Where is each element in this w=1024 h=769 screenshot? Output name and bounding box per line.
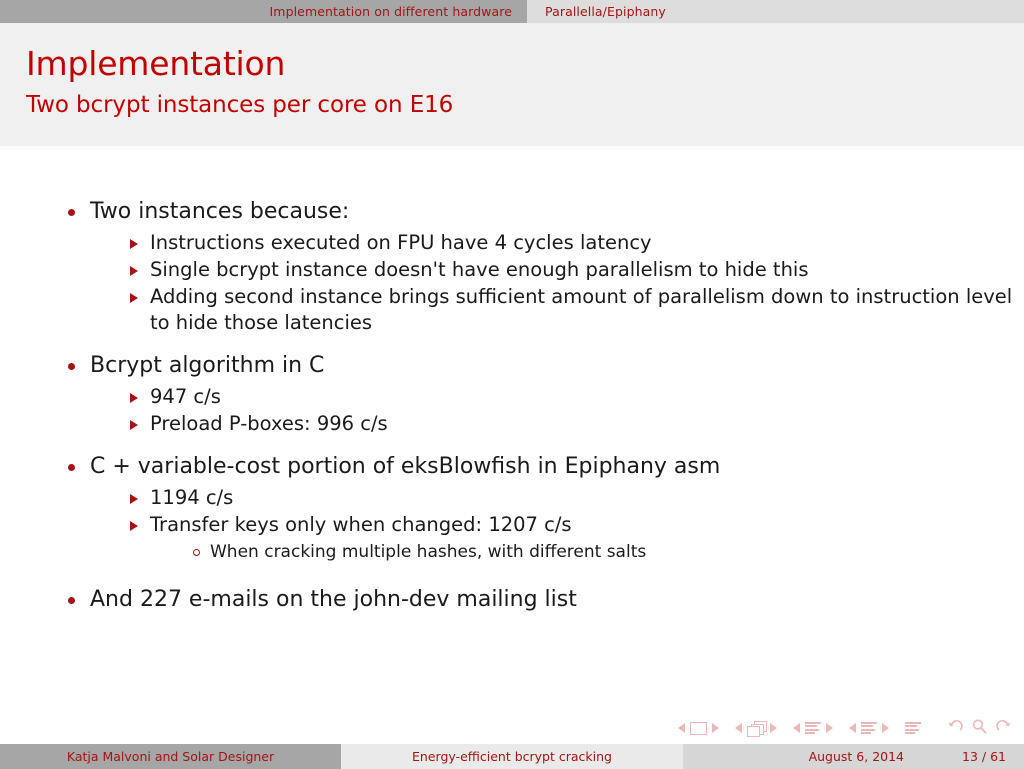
bullet-text: And 227 e-mails on the john-dev mailing … [90,586,1024,614]
previous-frame-icon[interactable] [735,723,742,733]
list-item: Adding second instance brings sufficient… [124,284,1024,336]
previous-section-icon[interactable] [849,723,856,733]
spacer [62,342,1024,352]
bullet-list-level2: Instructions executed on FPU have 4 cycl… [124,230,1024,336]
next-frame-icon[interactable] [770,723,777,733]
spacer [62,569,1024,586]
slide-title-block: Implementation Two bcrypt instances per … [0,23,1024,146]
bullet-text: 1194 c/s [150,486,233,509]
footer-page-number: 13 / 61 [962,749,1006,764]
spacer [62,443,1024,453]
bullet-text: Single bcrypt instance doesn't have enou… [150,258,809,281]
subsection-icon[interactable] [805,722,821,735]
frames-icon[interactable] [747,721,765,735]
bullet-text: Two instances because: [90,198,1024,226]
next-slide-icon[interactable] [712,723,719,733]
presentation-icon[interactable] [905,722,921,735]
document-navigation-group [947,718,1012,739]
next-subsection-icon[interactable] [826,723,833,733]
list-item: And 227 e-mails on the john-dev mailing … [62,586,1024,614]
slide-header-bar: Implementation on different hardware Par… [0,0,1024,23]
search-icon[interactable] [971,718,988,739]
back-icon[interactable] [947,718,964,739]
list-item: Transfer keys only when changed: 1207 c/… [124,512,1024,563]
bullet-list-level1: Two instances because: Instructions exec… [62,198,1024,614]
list-item: Instructions executed on FPU have 4 cycl… [124,230,1024,256]
frame-navigation-group [735,721,777,735]
slide-navigation-group [678,722,719,735]
bullet-list-level2: 1194 c/s Transfer keys only when changed… [124,485,1024,563]
page-subtitle: Two bcrypt instances per core on E16 [26,92,1024,120]
list-item: When cracking multiple hashes, with diff… [186,541,1024,563]
bullet-text: Adding second instance brings sufficient… [150,285,1012,334]
bullet-text: Preload P-boxes: 996 c/s [150,412,388,435]
header-subsection-label[interactable]: Parallella/Epiphany [527,0,1024,23]
bullet-text: Instructions executed on FPU have 4 cycl… [150,231,652,254]
footer-title: Energy-efficient bcrypt cracking [341,744,683,769]
slide-footer-bar: Katja Malvoni and Solar Designer Energy-… [0,744,1024,769]
list-item: 947 c/s [124,384,1024,410]
section-navigation-group [849,722,889,735]
bullet-text: Bcrypt algorithm in C [90,352,1024,380]
footer-author: Katja Malvoni and Solar Designer [0,744,341,769]
list-item: Bcrypt algorithm in C 947 c/s Preload P-… [62,352,1024,437]
slide-body: Two instances because: Instructions exec… [0,146,1024,706]
bullet-list-level2: 947 c/s Preload P-boxes: 996 c/s [124,384,1024,437]
list-item: Two instances because: Instructions exec… [62,198,1024,336]
bullet-list-level3: When cracking multiple hashes, with diff… [186,541,1024,563]
section-icon[interactable] [861,722,877,735]
header-left-spacer [0,0,175,23]
page-title: Implementation [26,45,1024,84]
footer-date: August 6, 2014 [809,749,904,764]
list-item: Preload P-boxes: 996 c/s [124,411,1024,437]
list-item: Single bcrypt instance doesn't have enou… [124,257,1024,283]
forward-icon[interactable] [995,718,1012,739]
bullet-text: When cracking multiple hashes, with diff… [210,542,646,562]
slide-icon[interactable] [690,722,707,735]
subsection-navigation-group [793,722,833,735]
presentation-navigation-group [905,722,921,735]
bullet-text: 947 c/s [150,385,221,408]
previous-subsection-icon[interactable] [793,723,800,733]
next-section-icon[interactable] [882,723,889,733]
bullet-text: Transfer keys only when changed: 1207 c/… [150,513,572,536]
previous-slide-icon[interactable] [678,723,685,733]
header-section-label[interactable]: Implementation on different hardware [175,0,527,23]
footer-right-group: August 6, 2014 13 / 61 [683,744,1024,769]
list-item: C + variable-cost portion of eksBlowfish… [62,453,1024,563]
list-item: 1194 c/s [124,485,1024,511]
bullet-text: C + variable-cost portion of eksBlowfish… [90,453,1024,481]
beamer-navigation-symbols [678,717,1012,739]
